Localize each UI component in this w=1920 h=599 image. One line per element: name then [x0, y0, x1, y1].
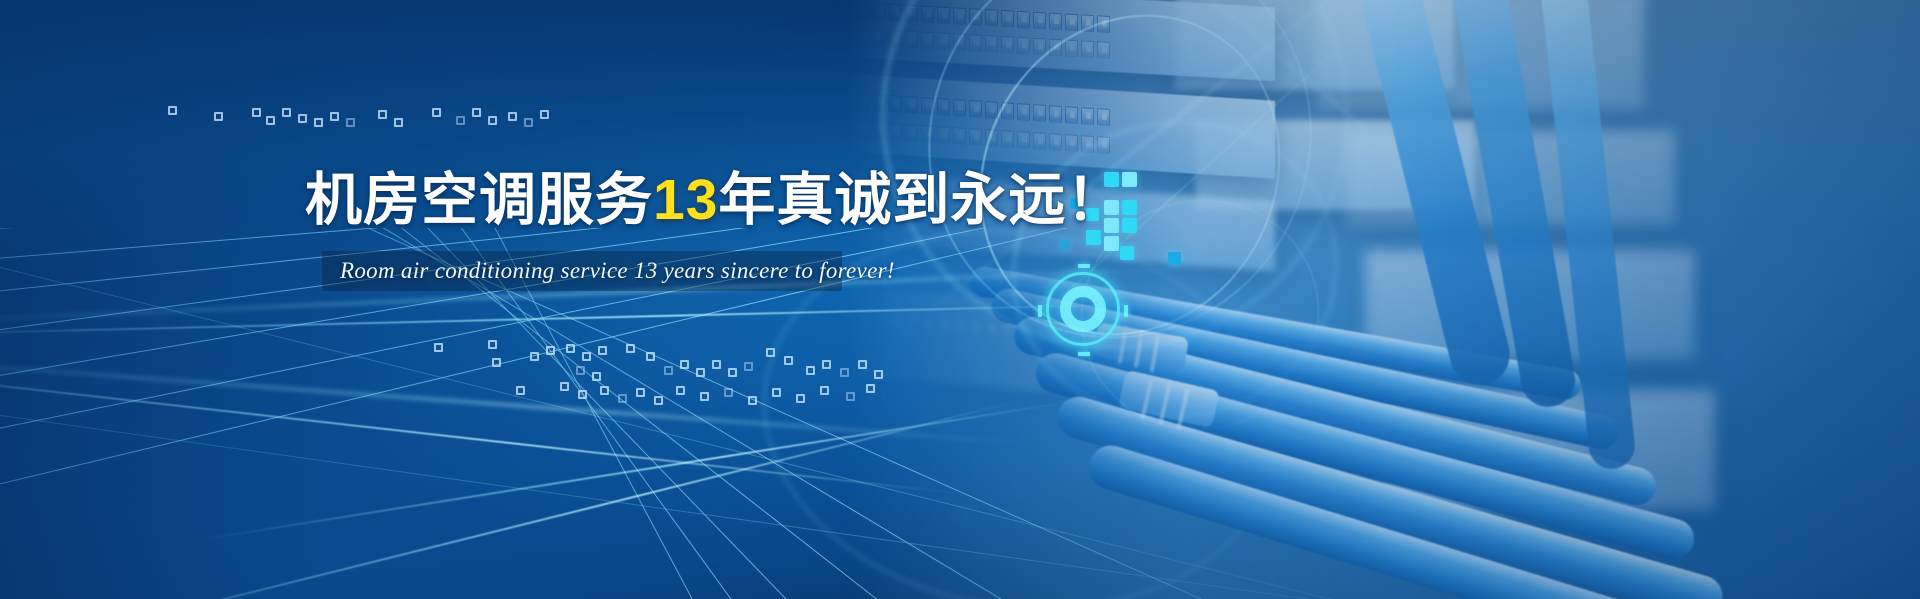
headline-part-before: 机房空调服务	[305, 168, 653, 232]
banner-copy: 机房空调服务13年真诚到永远！ Room air conditioning se…	[0, 0, 1920, 599]
banner-headline: 机房空调服务13年真诚到永远！	[305, 168, 1124, 232]
headline-part-after: 年真诚到永远！	[718, 168, 1124, 232]
banner-subtitle: Room air conditioning service 13 years s…	[340, 256, 895, 286]
headline-number: 13	[653, 168, 718, 232]
hero-banner: 机房空调服务13年真诚到永远！ Room air conditioning se…	[0, 0, 1920, 599]
